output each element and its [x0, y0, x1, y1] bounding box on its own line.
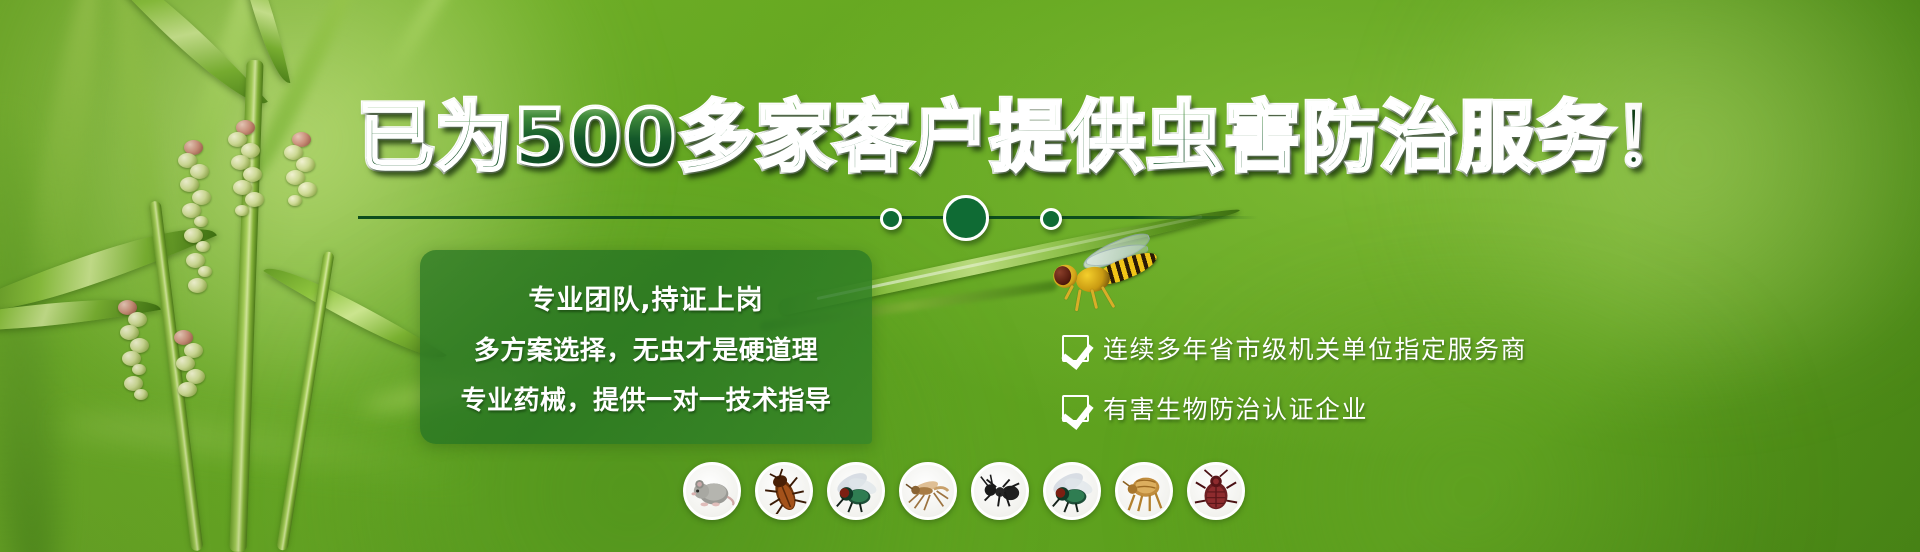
checklist-item: 连续多年省市级机关单位指定服务商: [1062, 330, 1527, 366]
page-headline: 已为500多家客户提供虫害防治服务！: [358, 85, 1558, 177]
mosquito-icon[interactable]: [899, 462, 957, 520]
fly-leg: [1090, 289, 1098, 309]
plant-leaf: [102, 0, 268, 124]
blowfly-icon[interactable]: [1043, 462, 1101, 520]
fly-leg: [1101, 286, 1116, 308]
bedbug-icon[interactable]: [1187, 462, 1245, 520]
checklist-item-label: 连续多年省市级机关单位指定服务商: [1103, 330, 1527, 366]
fly-icon[interactable]: [827, 462, 885, 520]
dot-small-left: [880, 208, 902, 230]
checkbox-checked-icon: [1062, 335, 1089, 362]
flea-icon[interactable]: [1115, 462, 1173, 520]
dot-large-center: [943, 195, 989, 241]
feature-line-1: 专业团队,持证上岗: [438, 278, 854, 317]
checklist-item-label: 有害生物防治认证企业: [1103, 390, 1368, 426]
features-panel: 专业团队,持证上岗 多方案选择，无虫才是硬道理 专业药械，提供一对一技术指导: [420, 250, 872, 444]
cockroach-icon[interactable]: [755, 462, 813, 520]
fly-leg: [1075, 289, 1082, 311]
checkbox-checked-icon: [1062, 395, 1089, 422]
feature-line-2: 多方案选择，无虫才是硬道理: [438, 330, 854, 367]
dot-small-right: [1040, 208, 1062, 230]
ant-icon[interactable]: [971, 462, 1029, 520]
pest-control-banner: 已为500多家客户提供虫害防治服务！ 已为500多家客户提供虫害防治服务！ 专业…: [0, 0, 1920, 552]
mouse-icon[interactable]: [683, 462, 741, 520]
checklist-item: 有害生物防治认证企业: [1062, 390, 1527, 426]
pest-type-icons: [683, 462, 1245, 520]
feature-line-3: 专业药械，提供一对一技术指导: [438, 380, 854, 417]
certification-checklist: 连续多年省市级机关单位指定服务商 有害生物防治认证企业: [1062, 330, 1527, 450]
decorative-dots: [880, 195, 1090, 241]
breadcrumb-divider: [358, 216, 1258, 219]
